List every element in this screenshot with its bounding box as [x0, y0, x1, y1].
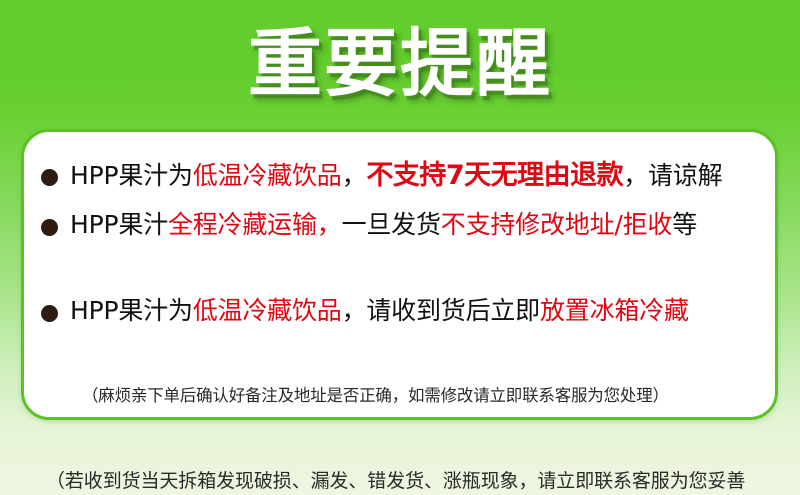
notice-subnote-2: （若收到货当天拆箱发现破损、漏发、错发货、涨瓶现象，请立即联系客服为您妥善处理）	[46, 469, 761, 495]
notice-line-1-seg-2: 低温冷藏饮品	[193, 161, 342, 190]
notice-line-2: HPP果汁全程冷藏运输，一旦发货不支持修改地址/拒收等	[70, 212, 697, 237]
notice-line-2-seg-3: 一旦发货	[342, 210, 441, 239]
notice-line-2-seg-5: 等	[672, 210, 697, 239]
notice-list: HPP果汁为低温冷藏饮品，不支持7天无理由退款，请谅解 HPP果汁全程冷藏运输，…	[24, 132, 775, 417]
list-item: HPP果汁为低温冷藏饮品，不支持7天无理由退款，请谅解	[24, 160, 775, 196]
notice-line-2-seg-4: 不支持修改地址/拒收	[441, 210, 672, 239]
list-item: HPP果汁全程冷藏运输，一旦发货不支持修改地址/拒收等	[24, 210, 775, 246]
bullet-icon	[41, 169, 58, 186]
bullet-icon	[41, 219, 58, 236]
notice-subnote-1: （麻烦亲下单后确认好备注及地址是否正确，如需修改请立即联系客服为您处理）	[82, 385, 669, 406]
bullet-icon	[41, 305, 58, 322]
notice-line-3-seg-4: 放置冰箱冷藏	[540, 296, 689, 325]
notice-line-1-seg-5: ，请谅解	[623, 161, 722, 190]
notice-line-1-seg-4: 不支持7天无理由退款	[366, 160, 623, 191]
notice-line-3: HPP果汁为低温冷藏饮品，请收到货后立即放置冰箱冷藏	[70, 298, 689, 323]
notice-line-1-seg-3: ，	[342, 161, 367, 190]
notice-line-1-seg-1: HPP果汁为	[70, 161, 193, 190]
notice-line-1: HPP果汁为低温冷藏饮品，不支持7天无理由退款，请谅解	[70, 162, 722, 189]
notice-line-3-seg-3: ，请收到货后立即	[342, 296, 540, 325]
important-notice-poster: 重要提醒 HPP果汁为低温冷藏饮品，不支持7天无理由退款，请谅解 HPP果汁全程…	[0, 0, 800, 495]
notice-line-3-seg-2: 低温冷藏饮品	[193, 296, 342, 325]
notice-card: HPP果汁为低温冷藏饮品，不支持7天无理由退款，请谅解 HPP果汁全程冷藏运输，…	[21, 129, 778, 420]
notice-line-2-seg-1: HPP果汁	[70, 210, 168, 239]
list-item: HPP果汁为低温冷藏饮品，请收到货后立即放置冰箱冷藏	[24, 296, 775, 332]
notice-line-2-seg-2: 全程冷藏运输，	[168, 210, 342, 239]
title-band: 重要提醒	[0, 0, 800, 126]
notice-line-3-seg-1: HPP果汁为	[70, 296, 193, 325]
page-title: 重要提醒	[248, 27, 552, 101]
